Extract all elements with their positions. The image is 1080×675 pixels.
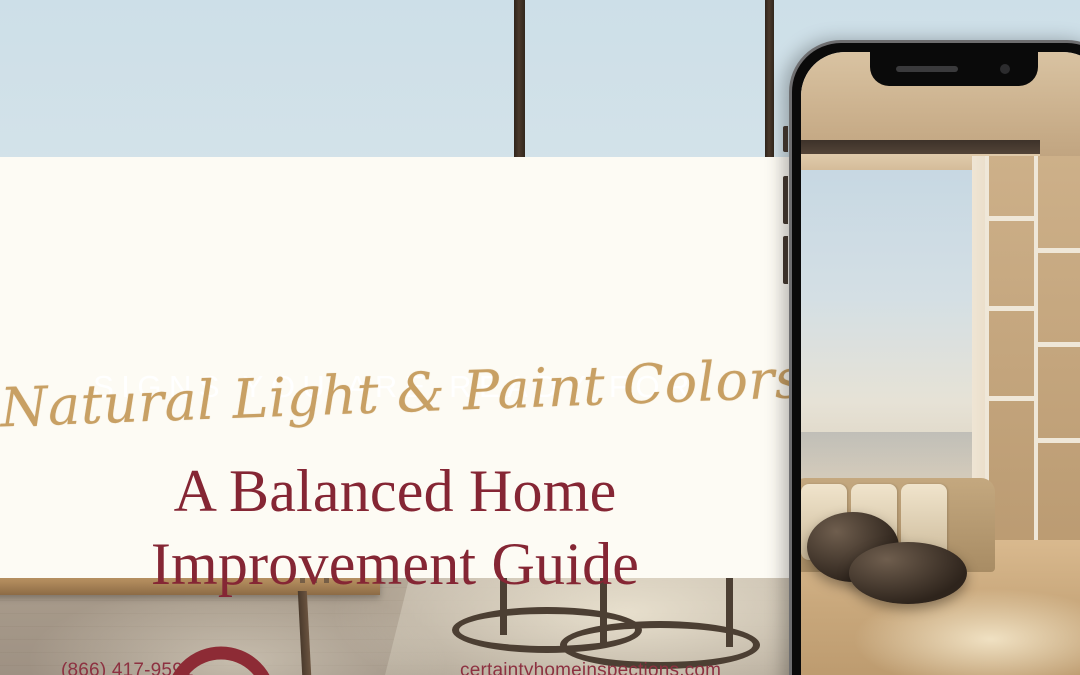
contact-website-url[interactable]: certaintyhomeinspections.com — [460, 660, 721, 675]
silent-switch-button[interactable] — [783, 126, 788, 152]
page-title: A Balanced Home Improvement Guide — [0, 455, 790, 601]
volume-down-button[interactable] — [783, 236, 788, 284]
phone-notch — [870, 52, 1038, 86]
phone-scene-ceiling-beam — [801, 140, 1040, 154]
phone-scene-leather-pouf-1 — [849, 542, 967, 604]
earpiece-speaker-icon — [896, 66, 958, 72]
volume-up-button[interactable] — [783, 176, 788, 224]
phone-frame — [789, 40, 1080, 675]
smartphone-mockup — [789, 40, 1080, 675]
front-camera-icon — [1000, 64, 1010, 74]
phone-screen[interactable] — [801, 52, 1080, 675]
house-circle-logo-icon — [160, 641, 282, 675]
page-title-line-1: A Balanced Home — [174, 458, 617, 524]
page-title-line-2: Improvement Guide — [0, 528, 790, 601]
script-headline: Natural Light & Paint Colors: — [0, 348, 791, 440]
brand-logo — [160, 641, 282, 675]
contact-row: (866) 417-9591 certaintyhomeinspections.… — [0, 660, 790, 675]
phone-scene-shelving-unit-2 — [1034, 156, 1080, 550]
phone-scene-skyline-view — [801, 432, 978, 484]
content-card: SIGNS YOU ARE READY FOR Natural Light & … — [0, 157, 790, 578]
